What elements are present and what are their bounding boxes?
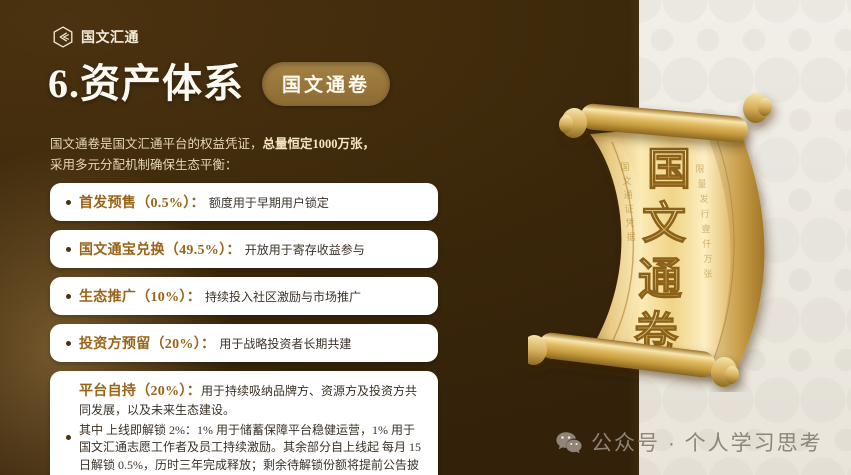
svg-text:万: 万 — [703, 254, 712, 264]
platform-reserve-lead: 平台自持（20%）：用于持续吸纳品牌方、资源方及投资方共同发展，以及未来生态建设… — [79, 382, 424, 420]
slide-root: 国文汇通 6.资产体系 国文通卷 国文通卷是国文汇通平台的权益凭证，总量恒定10… — [0, 0, 851, 475]
bullet-dot-icon — [66, 435, 71, 440]
watermark-text: 公众号 · 个人学习思考 — [591, 427, 823, 457]
brand-logo: 国文汇通 — [52, 26, 139, 48]
allocation-title: 生态推广（10%）： — [79, 290, 201, 305]
svg-text:通: 通 — [638, 255, 682, 304]
allocation-card: 国文通宝兑换（49.5%）： 开放用于寄存收益参与 — [50, 230, 438, 268]
svg-text:证: 证 — [624, 204, 633, 214]
allocation-card: 首发预售（0.5%）： 额度用于早期用户锁定 — [50, 183, 438, 221]
svg-text:凭: 凭 — [625, 217, 634, 228]
page-title: 6.资产体系 — [48, 64, 244, 104]
svg-text:仟: 仟 — [702, 238, 711, 249]
wechat-icon — [556, 431, 582, 453]
platform-reserve-card: 平台自持（20%）：用于持续吸纳品牌方、资源方及投资方共同发展，以及未来生态建设… — [50, 371, 438, 475]
svg-text:张: 张 — [703, 269, 712, 279]
platform-reserve-detail: 其中 上线即解锁 2%：1% 用于储蓄保障平台稳健运营，1% 用于国文汇通志愿工… — [79, 422, 424, 475]
svg-text:通: 通 — [623, 190, 632, 200]
hexagon-monogram-icon — [52, 26, 74, 48]
svg-text:文: 文 — [642, 199, 686, 248]
brand-name: 国文汇通 — [81, 27, 139, 47]
allocation-card-list: 首发预售（0.5%）： 额度用于早期用户锁定 国文通宝兑换（49.5%）： 开放… — [50, 183, 438, 475]
svg-text:国: 国 — [620, 162, 629, 172]
allocation-desc: 额度用于早期用户锁定 — [209, 196, 329, 210]
intro-line1-bold: 总量恒定1000万张， — [263, 137, 376, 151]
svg-text:量: 量 — [697, 179, 706, 189]
allocation-desc: 用于战略投资者长期共建 — [219, 337, 351, 351]
page-title-row: 6.资产体系 国文通卷 — [48, 62, 390, 106]
wechat-watermark: 公众号 · 个人学习思考 — [556, 427, 823, 457]
intro-line1-pre: 国文通卷是国文汇通平台的权益凭证， — [50, 137, 263, 151]
allocation-card: 投资方预留（20%）： 用于战略投资者长期共建 — [50, 324, 438, 362]
allocation-card-body: 首发预售（0.5%）： 额度用于早期用户锁定 — [79, 192, 424, 212]
scroll-top-rod — [558, 92, 773, 143]
allocation-desc: 开放用于寄存收益参与 — [245, 243, 365, 257]
allocation-title: 国文通宝兑换（49.5%）： — [79, 243, 241, 258]
svg-text:限: 限 — [695, 164, 704, 174]
bullet-dot-icon — [66, 247, 71, 252]
platform-reserve-body: 平台自持（20%）：用于持续吸纳品牌方、资源方及投资方共同发展，以及未来生态建设… — [79, 382, 424, 475]
intro-paragraph: 国文通卷是国文汇通平台的权益凭证，总量恒定1000万张， 采用多元分配机制确保生… — [50, 134, 450, 175]
allocation-title: 首发预售（0.5%）： — [79, 196, 205, 211]
allocation-desc: 持续投入社区激励与市场推广 — [205, 290, 361, 304]
svg-text:壹: 壹 — [701, 223, 710, 234]
allocation-card-body: 投资方预留（20%）： 用于战略投资者长期共建 — [79, 333, 424, 353]
bullet-dot-icon — [66, 341, 71, 346]
golden-scroll-svg: 国 文 通 卷 限量发 行壹仟 万张 国文通 证凭据 — [528, 92, 828, 392]
svg-text:发: 发 — [699, 193, 708, 204]
bullet-dot-icon — [66, 200, 71, 205]
bullet-dot-icon — [66, 294, 71, 299]
allocation-card-body: 国文通宝兑换（49.5%）： 开放用于寄存收益参与 — [79, 239, 424, 259]
allocation-card: 生态推广（10%）： 持续投入社区激励与市场推广 — [50, 277, 438, 315]
title-badge: 国文通卷 — [262, 62, 390, 106]
svg-text:国: 国 — [647, 145, 691, 194]
allocation-card-body: 生态推广（10%）： 持续投入社区激励与市场推广 — [79, 286, 424, 306]
svg-text:文: 文 — [622, 175, 631, 186]
intro-line2: 采用多元分配机制确保生态平衡： — [50, 158, 238, 172]
platform-reserve-title: 平台自持（20%）： — [79, 384, 201, 399]
golden-scroll-illustration: 国 文 通 卷 限量发 行壹仟 万张 国文通 证凭据 — [528, 92, 828, 392]
svg-text:行: 行 — [700, 208, 709, 219]
allocation-title: 投资方预留（20%）： — [79, 337, 215, 352]
svg-text:据: 据 — [626, 231, 635, 242]
